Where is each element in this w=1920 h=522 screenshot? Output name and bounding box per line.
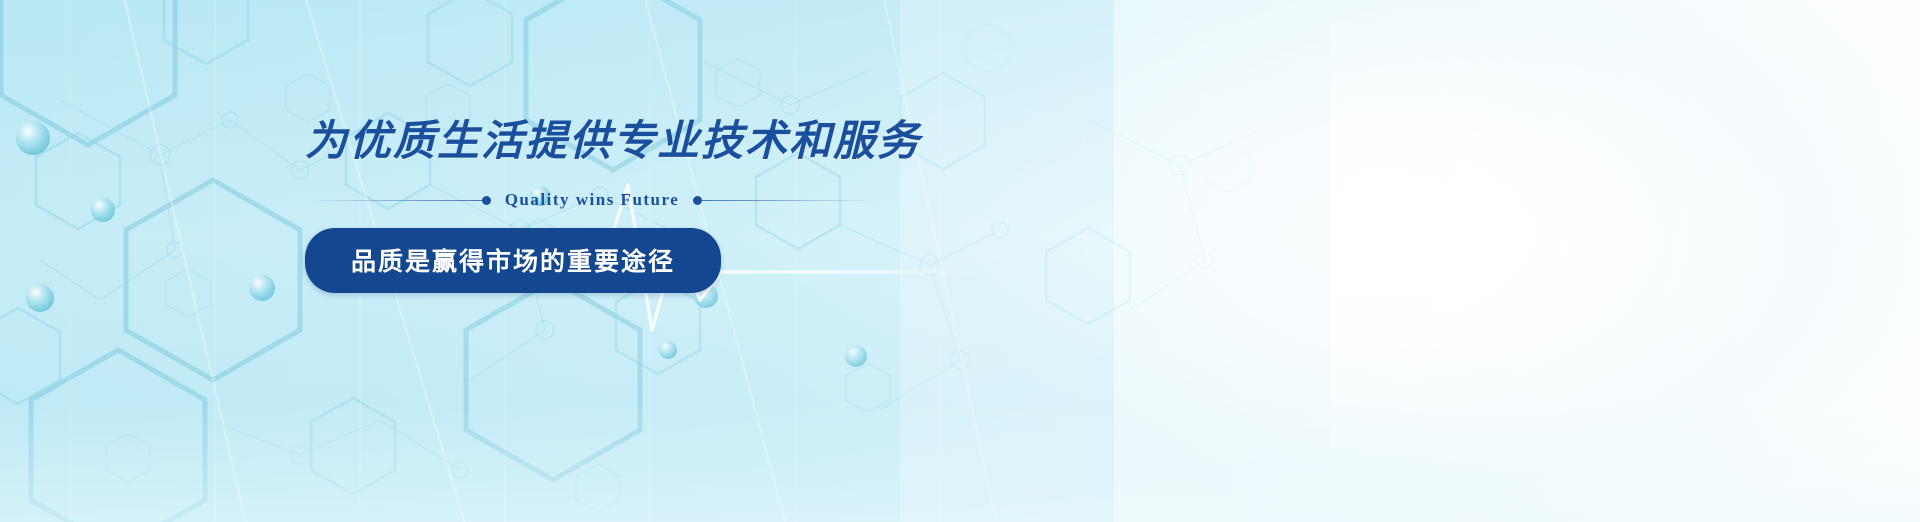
- page-title: 为优质生活提供专业技术和服务: [305, 118, 925, 164]
- divider-dot-right-icon: [693, 196, 702, 205]
- cta-button[interactable]: 品质是赢得市场的重要途径: [305, 228, 721, 293]
- banner-content: 为优质生活提供专业技术和服务 Quality wins Future 品质是赢得…: [305, 118, 925, 293]
- divider: Quality wins Future: [307, 190, 877, 210]
- divider-rule-left: [307, 200, 482, 201]
- divider-tagline: Quality wins Future: [491, 190, 694, 210]
- divider-dot-left-icon: [482, 196, 491, 205]
- divider-rule-right: [702, 200, 877, 201]
- doctor-with-clipboard-photo: [900, 0, 1920, 522]
- hero-banner: 为优质生活提供专业技术和服务 Quality wins Future 品质是赢得…: [0, 0, 1920, 522]
